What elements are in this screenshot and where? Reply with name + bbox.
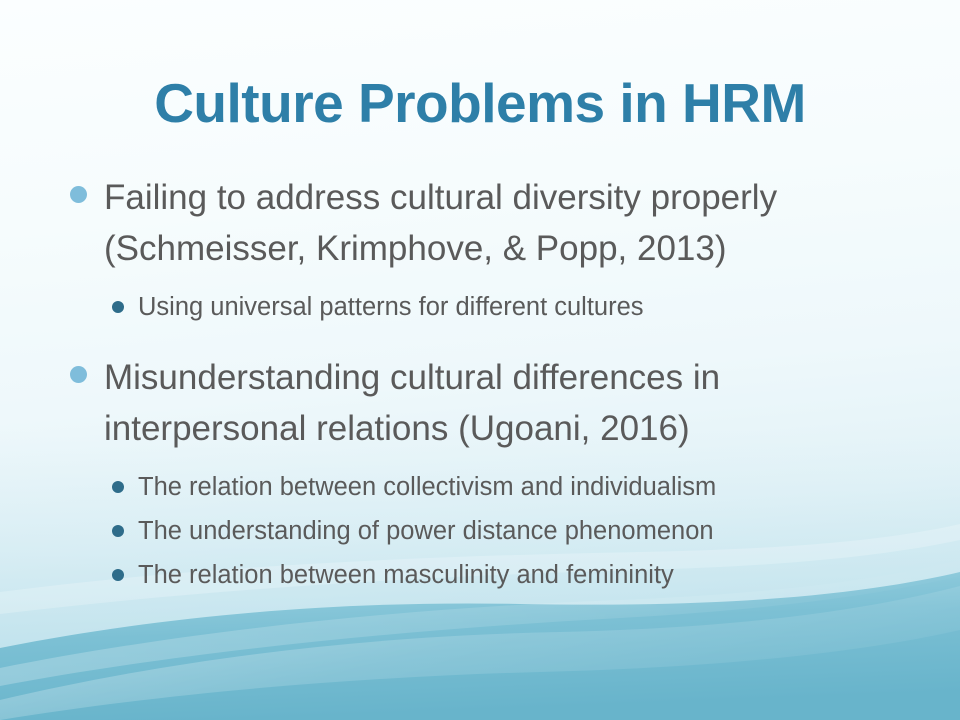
bullet-text: The relation between masculinity and fem… <box>138 554 904 597</box>
sub-bullet-marker-icon <box>112 481 124 493</box>
bullet-item-level2: The understanding of power distance phen… <box>0 510 960 553</box>
bullet-text: Failing to address cultural diversity pr… <box>104 172 904 274</box>
bullet-item-level1: Misunderstanding cultural differences in… <box>0 352 960 454</box>
bullet-item-level1: Failing to address cultural diversity pr… <box>0 172 960 274</box>
bullet-text: Misunderstanding cultural differences in… <box>104 352 904 454</box>
bullet-text: Using universal patterns for different c… <box>138 286 904 329</box>
bullet-item-level2: The relation between collectivism and in… <box>0 466 960 509</box>
bullet-text: The relation between collectivism and in… <box>138 466 904 509</box>
sub-bullet-marker-icon <box>112 301 124 313</box>
sub-bullet-marker-icon <box>112 525 124 537</box>
bullet-marker-icon <box>70 366 87 383</box>
presentation-slide: Culture Problems in HRM Failing to addre… <box>0 0 960 720</box>
spacer <box>0 330 960 352</box>
spacer <box>0 278 960 286</box>
spacer <box>0 458 960 466</box>
bullet-text: The understanding of power distance phen… <box>138 510 904 553</box>
slide-title: Culture Problems in HRM <box>0 72 960 134</box>
slide-body: Failing to address cultural diversity pr… <box>0 172 960 598</box>
sub-bullet-marker-icon <box>112 569 124 581</box>
bullet-marker-icon <box>70 186 87 203</box>
bullet-item-level2: Using universal patterns for different c… <box>0 286 960 329</box>
bullet-item-level2: The relation between masculinity and fem… <box>0 554 960 597</box>
